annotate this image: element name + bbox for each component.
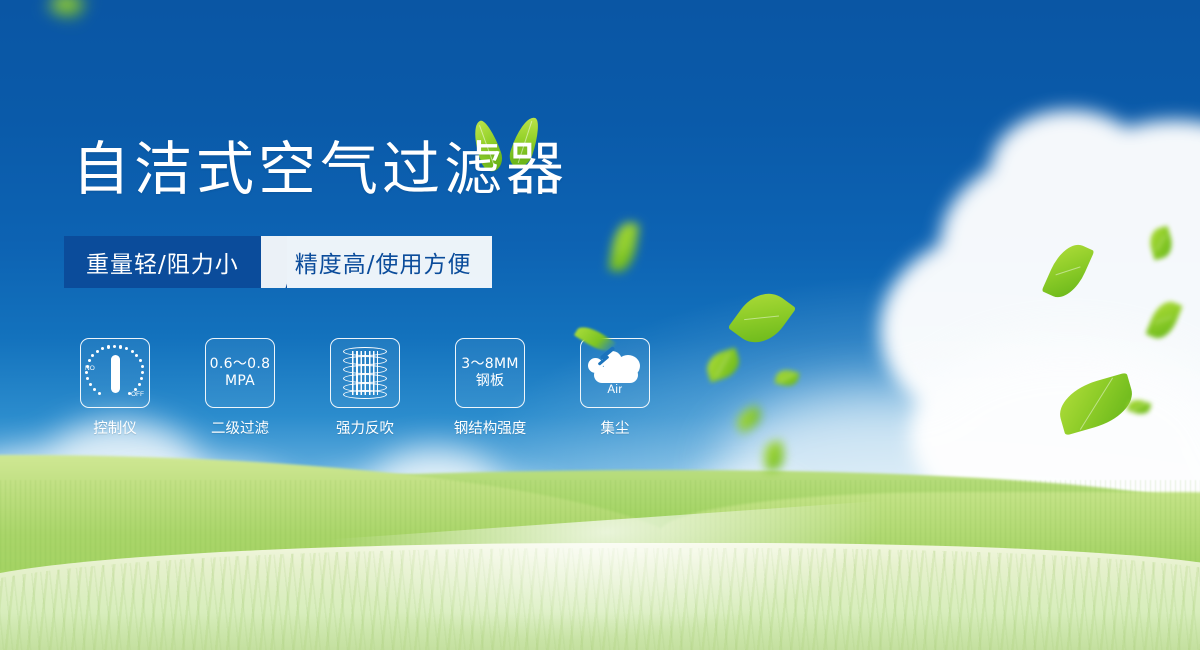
feature-label: 二级过滤 (211, 417, 269, 438)
feature-item-two-stage-filtration[interactable]: 0.6～0.8 MPA 二级过滤 (204, 338, 276, 438)
subtitle-left: 重量轻/阻力小 (64, 236, 261, 288)
feature-icon-box: 0.6～0.8 MPA (205, 338, 275, 408)
pressure-value-line2: MPA (225, 373, 255, 390)
feature-item-strong-back-blow[interactable]: 强力反吹 (329, 338, 401, 438)
air-caption: Air (607, 384, 622, 396)
subtitle-right: 精度高/使用方便 (287, 236, 492, 288)
feature-icon-box: NO OFF (80, 338, 150, 408)
subtitle-bar: 重量轻/阻力小 精度高/使用方便 (64, 236, 492, 288)
grass-bottom-shadow (0, 612, 1200, 650)
feature-item-control-instrument[interactable]: NO OFF 控制仪 (79, 338, 151, 438)
feature-item-dust-collection[interactable]: Air 集尘 (579, 338, 651, 438)
page-title: 自洁式空气过滤器 (72, 140, 568, 198)
feature-label: 控制仪 (93, 417, 137, 438)
feature-icon-box: 3～8MM 钢板 (455, 338, 525, 408)
feature-list: NO OFF 控制仪 0.6～0.8 MPA 二级过滤 (79, 338, 651, 438)
gauge-needle-icon (111, 355, 120, 393)
gauge-icon: NO OFF (85, 344, 145, 402)
steel-value-line2: 钢板 (476, 373, 505, 390)
feature-label: 钢结构强度 (454, 417, 527, 438)
air-cloud-icon (588, 349, 642, 383)
feature-label: 强力反吹 (336, 417, 394, 438)
gauge-on-label: NO (85, 365, 95, 372)
steel-value-line1: 3～8MM (461, 356, 518, 373)
feature-icon-box: Air (580, 338, 650, 408)
feature-item-steel-structure-strength[interactable]: 3～8MM 钢板 钢结构强度 (454, 338, 526, 438)
gauge-off-label: OFF (131, 391, 144, 398)
pressure-value-line1: 0.6～0.8 (210, 356, 271, 373)
feature-icon-box (330, 338, 400, 408)
coil-icon (343, 347, 387, 399)
subtitle-slash-divider (261, 236, 287, 288)
banner-hero: 自洁式空气过滤器 重量轻/阻力小 精度高/使用方便 (0, 0, 1200, 650)
feature-label: 集尘 (601, 417, 630, 438)
